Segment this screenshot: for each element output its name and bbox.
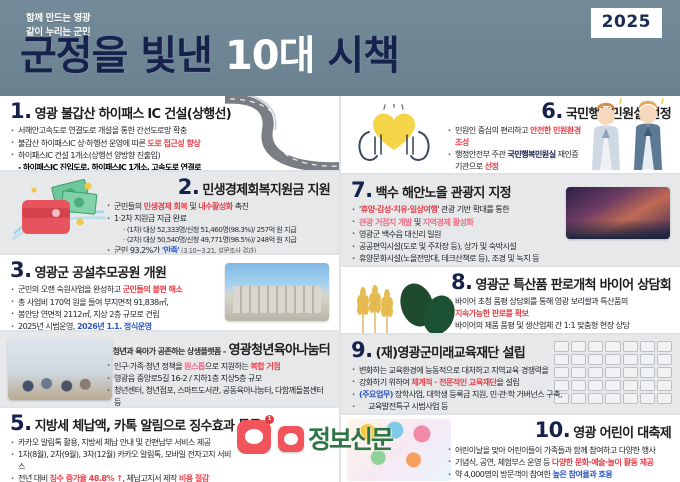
- item-5-bullets: 카카오 알림톡 활용, 지방세 체납 안내 및 간편납부 서비스 제공 1차(8…: [10, 437, 330, 482]
- item-7-title: 백수 해안노을 관광지 지정: [376, 187, 511, 201]
- list-item: 영광군 백수읍 대신리 일원: [351, 229, 575, 241]
- item-2-heading: 2. 민생경제회복지원금 지원: [10, 178, 330, 198]
- list-item: 카카오 알림톡 활용, 지방세 체납 안내 및 간편납부 서비스 제공: [10, 437, 234, 449]
- left-column: 1. 영광 불갑산 하이패스 IC 건설(상행선) 서해안고속도로 연결도로 개…: [0, 96, 339, 482]
- item-1-dash-note: - 하이패스IC 진입도로, 하이패스IC 1개소, 고속도로 연결로: [10, 162, 330, 170]
- item-card-8[interactable]: 8. 영광군 특산품 판로개척 바이어 상담회 바이어 초청 품평 상담회를 통…: [341, 267, 680, 334]
- item-1-heading: 1. 영광 불갑산 하이패스 IC 건설(상행선): [10, 102, 330, 122]
- title-part-3: 시책: [327, 33, 399, 79]
- item-5-title: 지방세 체납액, 카톡 알림으로 징수효과 톡톡: [35, 420, 261, 434]
- list-item: 영광읍 중앙로5길 16-2 / 지하1층 지상5층 규모: [106, 373, 330, 385]
- item-card-3[interactable]: 3. 영광군 공설추모공원 개원 군민의 오랜 숙원사업을 완성하고 군민들의 …: [0, 255, 339, 330]
- list-item: 지속가능한 판로를 확보: [447, 308, 671, 320]
- list-item: 군민 93.2%가 '만족' (3.10~3.21. 설문조사 결과): [106, 245, 330, 253]
- item-9-number: 9.: [351, 341, 373, 360]
- title-part-1: 군정을 빛낸: [20, 33, 212, 79]
- list-item: 불갑산 하이패스IC 상·하행선 운영에 따른 도로 접근성 향상: [10, 138, 234, 150]
- list-item: 변화하는 교육환경에 능동적으로 대처하고 지역교육 경쟁력을: [351, 365, 575, 377]
- item-4-bullets: 인구·가족·청년 정책을 원스톱으로 지원하는 복합 거점 영광읍 중앙로5길 …: [10, 361, 330, 406]
- item-10-heading: 10. 영광 어린이 대축제: [351, 421, 671, 441]
- item-card-2[interactable]: 2. 민생경제회복지원금 지원 군민들의 민생경제 회복 및 내수활성화 촉진 …: [0, 172, 339, 254]
- item-4-heading: 4. 청년과 육아가 공존하는 상생플랫폼 - 영광청년육아나눔터: [10, 338, 330, 358]
- item-6-heading: 6. 국민행복민원실 선정: [351, 102, 671, 122]
- list-item: 어린이날을 맞아 어린이들이 가족들과 함께 참여하고 다양한 행사: [447, 445, 671, 457]
- sub-item: (1차) 대상 52,333명/신청 51,460명(98.3%)/ 257억 …: [114, 225, 330, 235]
- item-6-bullets: 민원인 중심의 편리하고 안전한 민원환경 조성 행정안전부 주관 국민행복민원…: [351, 125, 671, 172]
- item-3-title: 영광군 공설추모공원 개원: [35, 267, 167, 281]
- list-item: 행정안전부 주관 국민행복민원실 재인증 기관으로 선정: [447, 149, 581, 172]
- item-8-title: 영광군 특산품 판로개척 바이어 상담회: [476, 279, 671, 293]
- item-card-4[interactable]: 4. 청년과 육아가 공존하는 상생플랫폼 - 영광청년육아나눔터 인구·가족·…: [0, 332, 339, 406]
- slogan-line-1: 함께 만드는 영광: [26, 12, 90, 26]
- right-column: 6. 국민행복민원실 선정 민원인 중심의 편리하고 안전한 민원환경 조성 행…: [341, 96, 680, 482]
- item-10-bullets: 어린이날을 맞아 어린이들이 가족들과 함께 참여하고 다양한 행사 기념식, …: [351, 445, 671, 481]
- item-7-number: 7.: [351, 181, 373, 200]
- item-2-bullets: 군민들의 민생경제 회복 및 내수활성화 촉진 1·2차 지원금 지급 완료 (…: [10, 201, 330, 253]
- item-card-1[interactable]: 1. 영광 불갑산 하이패스 IC 건설(상행선) 서해안고속도로 연결도로 개…: [0, 96, 339, 170]
- item-7-heading: 7. 백수 해안노을 관광지 지정: [351, 181, 671, 201]
- list-item: 관광 거점지 개발 및 지역경제 활성화: [351, 217, 575, 229]
- list-item: 공공편익시설(도로 및 주차장 등), 상가 및 숙박시설: [351, 241, 575, 253]
- list-item: (주요업무) 장학사업, 대학생 등록금 지원, 민·관·학 거버넌스 구축,: [351, 389, 575, 401]
- item-10-title: 영광 어린이 대축제: [573, 427, 671, 441]
- list-item: 전년 대비 징수 증가율 48.8% ↑, 체납고지서 제작 비용 절감: [10, 473, 234, 482]
- poster-header: 함께 만드는 영광 같이 누리는 군민 2025 군정을 빛낸10대시책: [0, 0, 680, 96]
- item-card-6[interactable]: 6. 국민행복민원실 선정 민원인 중심의 편리하고 안전한 민원환경 조성 행…: [341, 96, 680, 173]
- list-item: '휴양·감성·치유·일상여행' 관광 기반 확대를 통한: [351, 204, 575, 216]
- items-grid: 1. 영광 불갑산 하이패스 IC 건설(상행선) 서해안고속도로 연결도로 개…: [0, 96, 680, 482]
- title-part-2: 10대: [225, 33, 314, 79]
- list-item: 서해안고속도로 연결도로 개설을 통한 간선도로망 확충: [10, 125, 234, 137]
- item-1-bullets: 서해안고속도로 연결도로 개설을 통한 간선도로망 확충 불갑산 하이패스IC …: [10, 125, 330, 161]
- item-10-number: 10.: [535, 421, 571, 440]
- list-item: 교육발전특구 시범사업 등: [351, 401, 575, 413]
- list-item: 1차(8월), 2차(9월), 3차(12월) 카카오 알림톡, 모바일 전자고…: [10, 449, 234, 472]
- list-item: 1·2차 지원금 지급 완료 (1차) 대상 52,333명/신청 51,460…: [106, 213, 330, 245]
- item-9-title: (재)영광군미래교육재단 설립: [376, 347, 525, 361]
- item-5-number: 5.: [10, 414, 32, 433]
- item-5-heading: 5. 지방세 체납액, 카톡 알림으로 징수효과 톡톡: [10, 414, 330, 434]
- list-item: 봉안당 연면적 2112㎡, 지상 2층 규모로 건립: [10, 309, 234, 321]
- list-item: 2025년 시범운영, 2026년 1.1. 정식운영: [10, 321, 234, 330]
- list-item: 바이어 초청 품평 상담회를 통해 영광 보리쌀과 특산품의: [447, 296, 671, 308]
- item-card-5[interactable]: 1 5. 지방세 체납액, 카톡 알림으로 징수효과 톡톡 카카오 알림톡 활용…: [0, 408, 339, 482]
- list-item: 하이패스IC 건설 1개소(상행선 양방향 진출입): [10, 150, 234, 162]
- item-3-bullets: 군민의 오랜 숙원사업을 완성하고 군민들의 불편 해소 총 사업비 170억 …: [10, 284, 330, 329]
- item-4-number: 4.: [88, 338, 110, 357]
- item-3-heading: 3. 영광군 공설추모공원 개원: [10, 261, 330, 281]
- sub-item: (2차) 대상 50,540명/신청 49,771명(98.5%)/ 248억 …: [114, 235, 330, 245]
- list-item: 총 사업비 170억 원을 들여 부지면적 91,838㎡,: [10, 297, 234, 309]
- infographic-poster: 함께 만드는 영광 같이 누리는 군민 2025 군정을 빛낸10대시책 1. …: [0, 0, 680, 482]
- item-8-heading: 8. 영광군 특산품 판로개척 바이어 상담회: [351, 273, 671, 293]
- item-7-bullets: '휴양·감성·치유·일상여행' 관광 기반 확대를 통한 관광 거점지 개발 및…: [351, 204, 671, 264]
- list-item: 바이어의 제품 품평 및 생산업체 간 1:1 맞춤형 현장 상담: [447, 320, 671, 332]
- page-title: 군정을 빛낸10대시책: [20, 36, 399, 76]
- item-6-number: 6.: [541, 102, 563, 121]
- item-4-title-prefix: 청년과 육아가 공존하는 상생플랫폼 -: [113, 346, 226, 357]
- list-item: 청년센터, 청년점포, 스마트도서관, 공동육아나눔터, 다함께돌봄센터 등: [106, 385, 330, 405]
- item-card-7[interactable]: 7. 백수 해안노을 관광지 지정 '휴양·감성·치유·일상여행' 관광 기반 …: [341, 175, 680, 264]
- item-card-10[interactable]: 10. 영광 어린이 대축제 어린이날을 맞아 어린이들이 가족들과 함께 참여…: [341, 415, 680, 482]
- item-card-9[interactable]: 9. (재)영광군미래교육재단 설립 변화하는 교육환경에 능동적으로 대처하고…: [341, 335, 680, 413]
- item-2-number: 2.: [178, 178, 200, 197]
- item-2-title: 민생경제회복지원금 지원: [202, 184, 330, 198]
- list-item: 군민의 오랜 숙원사업을 완성하고 군민들의 불편 해소: [10, 284, 234, 296]
- list-item: 군민들의 민생경제 회복 및 내수활성화 촉진: [106, 201, 330, 213]
- list-item: 강화하기 위하여 체계적 · 전문적인 교육재단을 설립: [351, 377, 575, 389]
- item-6-title: 국민행복민원실 선정: [566, 108, 671, 122]
- item-8-bullets: 바이어 초청 품평 상담회를 통해 영광 보리쌀과 특산품의 지속가능한 판로를…: [351, 296, 671, 332]
- item-1-title: 영광 불갑산 하이패스 IC 건설(상행선): [35, 108, 231, 122]
- item-9-bullets: 변화하는 교육환경에 능동적으로 대처하고 지역교육 경쟁력을 강화하기 위하여…: [351, 365, 671, 413]
- item-3-number: 3.: [10, 261, 32, 280]
- list-item: 휴양문화시설(노을전망대, 데크산책로 등), 조경 및 녹지 등: [351, 253, 575, 264]
- list-item: 민원인 중심의 편리하고 안전한 민원환경 조성: [447, 125, 581, 148]
- item-8-number: 8.: [451, 273, 473, 292]
- item-1-number: 1.: [10, 102, 32, 121]
- list-item: 약 4,000명의 방문객이 참여한 높은 참여율과 호응: [447, 469, 671, 481]
- year-badge: 2025: [591, 8, 662, 38]
- item-9-heading: 9. (재)영광군미래교육재단 설립: [351, 341, 671, 361]
- list-item: 인구·가족·청년 정책을 원스톱으로 지원하는 복합 거점: [106, 361, 330, 373]
- item-4-title: 영광청년육아나눔터: [229, 344, 330, 358]
- list-item: 기념식, 공연, 체험부스 운영 등 다양한 문화·예술·놀이 활동 제공: [447, 457, 671, 469]
